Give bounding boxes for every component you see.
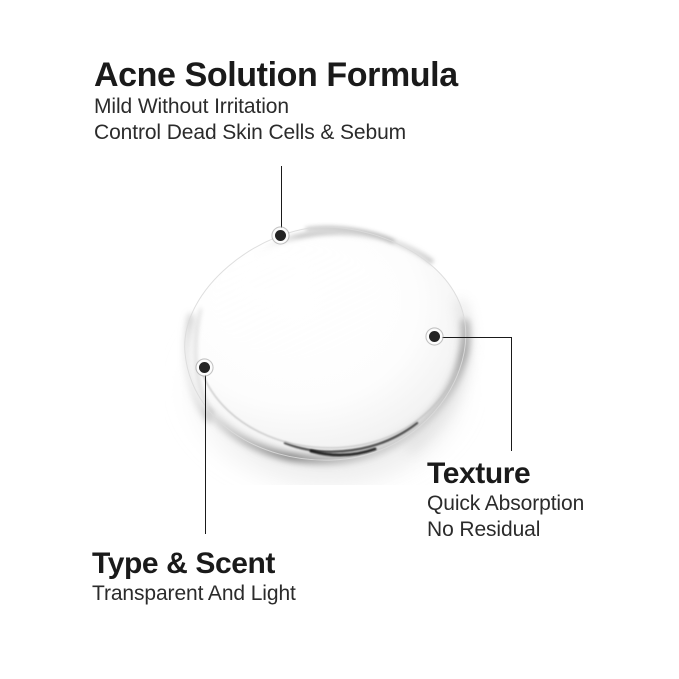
leader-line-type-scent	[205, 368, 207, 534]
droplet-outline	[185, 227, 466, 460]
droplet-body	[185, 227, 466, 460]
callout-texture-heading: Texture	[427, 457, 584, 491]
droplet-specular-streak	[285, 423, 417, 452]
leader-line-formula	[281, 166, 283, 236]
droplet-cast-shadow	[177, 273, 473, 485]
droplet-right-falloff	[411, 305, 467, 447]
callout-formula: Acne Solution Formula Mild Without Irrit…	[94, 56, 458, 146]
callout-texture-line-2: No Residual	[427, 517, 584, 543]
leader-line-texture-vertical	[511, 337, 513, 451]
callout-type-scent-heading: Type & Scent	[92, 547, 296, 581]
callout-type-scent: Type & Scent Transparent And Light	[92, 547, 296, 607]
callout-formula-heading: Acne Solution Formula	[94, 56, 458, 94]
marker-dot-type-scent[interactable]	[199, 362, 210, 373]
droplet-specular-streak-core	[311, 449, 375, 455]
callout-formula-line-2: Control Dead Skin Cells & Sebum	[94, 120, 458, 146]
leader-line-texture-horizontal	[435, 337, 512, 339]
droplet-hotspot	[228, 242, 319, 312]
product-infographic: Acne Solution Formula Mild Without Irrit…	[0, 0, 679, 679]
droplet-inner-contour	[203, 371, 457, 448]
droplet-top-rim-core	[307, 228, 393, 241]
callout-texture-line-1: Quick Absorption	[427, 491, 584, 517]
callout-type-scent-line-1: Transparent And Light	[92, 581, 296, 607]
gel-droplet-illustration	[165, 205, 485, 485]
droplet-lower-rim-shading	[209, 323, 466, 460]
droplet-gloss-highlight	[201, 235, 393, 367]
callout-formula-line-1: Mild Without Irritation	[94, 94, 458, 120]
marker-dot-formula[interactable]	[275, 230, 286, 241]
callout-texture: Texture Quick Absorption No Residual	[427, 457, 584, 543]
marker-dot-texture[interactable]	[429, 331, 440, 342]
gel-droplet-image	[165, 205, 485, 485]
